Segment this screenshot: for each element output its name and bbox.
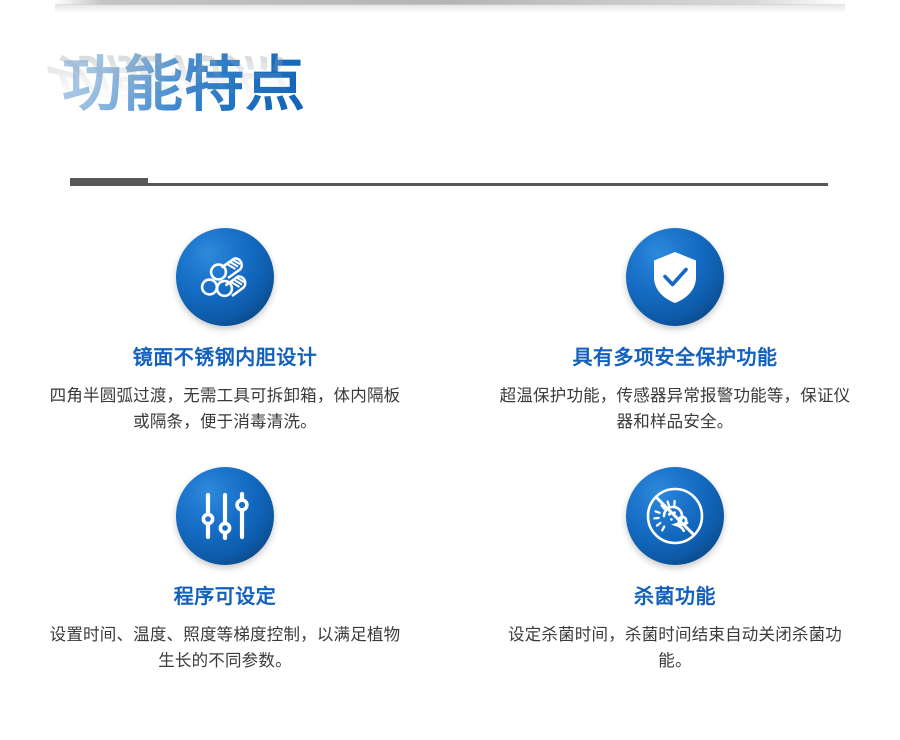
steel-pipes-icon bbox=[176, 228, 274, 326]
feature-title: 程序可设定 bbox=[28, 583, 422, 609]
feature-row-1: 镜面不锈钢内胆设计 四角半圆弧过渡，无需工具可拆卸箱，体内隔板或隔条，便于消毒清… bbox=[0, 228, 900, 435]
divider-thin-line bbox=[70, 183, 828, 186]
section-heading: 功能特点 功能特点 bbox=[62, 52, 562, 172]
feature-title: 杀菌功能 bbox=[478, 583, 872, 609]
section-heading-reflection: 功能特点 bbox=[38, 48, 306, 114]
feature-card-4: 杀菌功能 设定杀菌时间，杀菌时间结束自动关闭杀菌功能。 bbox=[450, 467, 900, 674]
feature-grid: 镜面不锈钢内胆设计 四角半圆弧过渡，无需工具可拆卸箱，体内隔板或隔条，便于消毒清… bbox=[0, 228, 900, 674]
section-top-edge-shadow bbox=[55, 4, 845, 13]
feature-description: 设定杀菌时间，杀菌时间结束自动关闭杀菌功能。 bbox=[495, 622, 855, 674]
feature-title: 镜面不锈钢内胆设计 bbox=[28, 344, 422, 370]
feature-card-2: 具有多项安全保护功能 超温保护功能，传感器异常报警功能等，保证仪器和样品安全。 bbox=[450, 228, 900, 435]
feature-description: 设置时间、温度、照度等梯度控制，以满足植物生长的不同参数。 bbox=[45, 622, 405, 674]
no-bacteria-icon bbox=[626, 467, 724, 565]
feature-row-2: 程序可设定 设置时间、温度、照度等梯度控制，以满足植物生长的不同参数。 bbox=[0, 467, 900, 674]
section-divider bbox=[70, 178, 828, 186]
sliders-icon bbox=[176, 467, 274, 565]
divider-thick-cap bbox=[70, 178, 148, 186]
feature-card-1: 镜面不锈钢内胆设计 四角半圆弧过渡，无需工具可拆卸箱，体内隔板或隔条，便于消毒清… bbox=[0, 228, 450, 435]
feature-description: 超温保护功能，传感器异常报警功能等，保证仪器和样品安全。 bbox=[495, 383, 855, 435]
feature-card-3: 程序可设定 设置时间、温度、照度等梯度控制，以满足植物生长的不同参数。 bbox=[0, 467, 450, 674]
feature-description: 四角半圆弧过渡，无需工具可拆卸箱，体内隔板或隔条，便于消毒清洗。 bbox=[45, 383, 405, 435]
feature-title: 具有多项安全保护功能 bbox=[478, 344, 872, 370]
shield-check-icon bbox=[626, 228, 724, 326]
